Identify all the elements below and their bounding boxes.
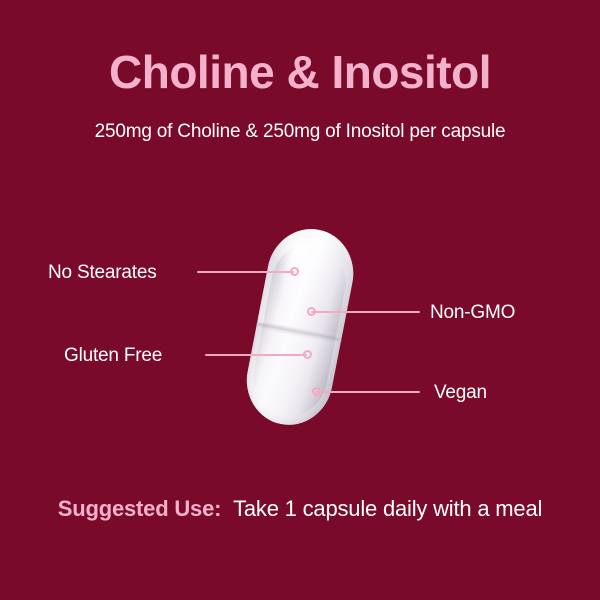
leader-line-no-stearates	[197, 271, 294, 273]
capsule-cap	[257, 222, 361, 340]
suggested-use-label: Suggested Use:	[58, 496, 221, 521]
callout-label-gluten-free: Gluten Free	[64, 345, 162, 367]
leader-dot-no-stearates	[290, 267, 299, 276]
callout-label-non-gmo: Non-GMO	[430, 302, 515, 324]
leader-line-non-gmo	[311, 311, 420, 313]
product-infographic: Choline & Inositol 250mg of Choline & 25…	[0, 0, 600, 600]
page-title: Choline & Inositol	[0, 48, 600, 96]
product-subtitle: 250mg of Choline & 250mg of Inositol per…	[0, 121, 600, 143]
callout-label-no-stearates: No Stearates	[48, 262, 157, 284]
capsule-image	[239, 222, 361, 433]
leader-line-vegan	[316, 391, 420, 393]
suggested-use: Suggested Use: Take 1 capsule daily with…	[0, 492, 600, 526]
leader-dot-gluten-free	[303, 350, 312, 359]
leader-line-gluten-free	[205, 354, 307, 356]
suggested-use-text: Take 1 capsule daily with a meal	[233, 496, 542, 521]
callout-label-vegan: Vegan	[434, 382, 487, 404]
